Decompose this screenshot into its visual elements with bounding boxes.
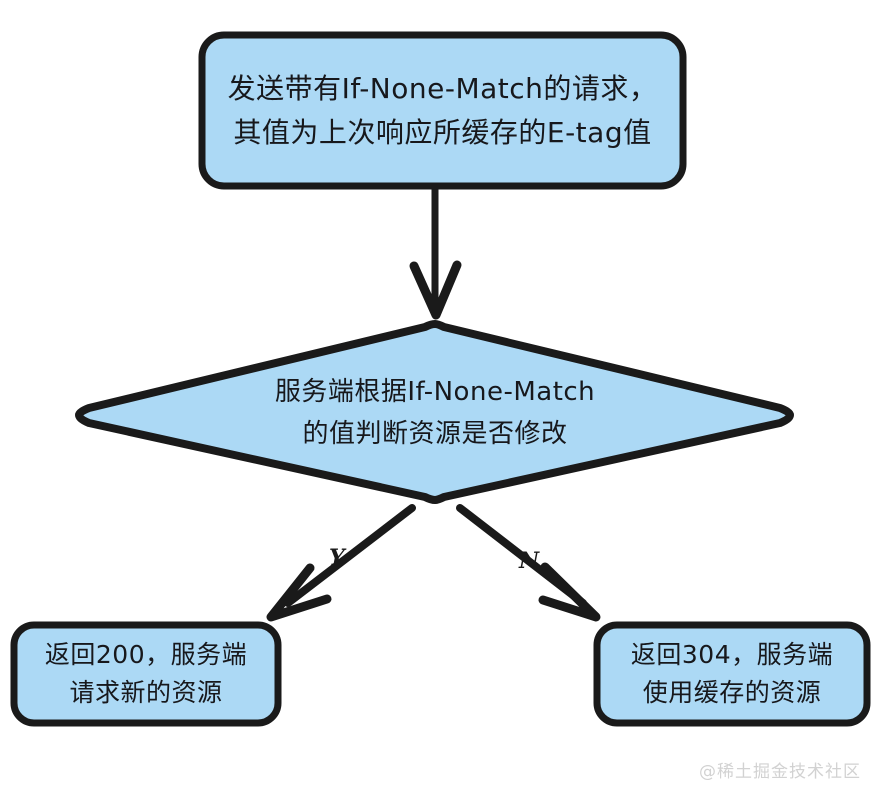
edge-label-yes: Y bbox=[329, 545, 345, 571]
node-request-shape[interactable] bbox=[202, 35, 683, 186]
edge-request-decision bbox=[414, 188, 457, 315]
edge-label-no: N bbox=[519, 548, 539, 574]
watermark: @稀土掘金技术社区 bbox=[699, 757, 861, 782]
flowchart-canvas: 发送带有If-None-Match的请求， 其值为上次响应所缓存的E-tag值 … bbox=[0, 0, 873, 792]
flowchart-svg bbox=[0, 0, 873, 792]
node-decision-shape[interactable] bbox=[79, 324, 790, 500]
node-result-304-shape[interactable] bbox=[597, 625, 867, 723]
node-result-200-shape[interactable] bbox=[14, 625, 278, 723]
